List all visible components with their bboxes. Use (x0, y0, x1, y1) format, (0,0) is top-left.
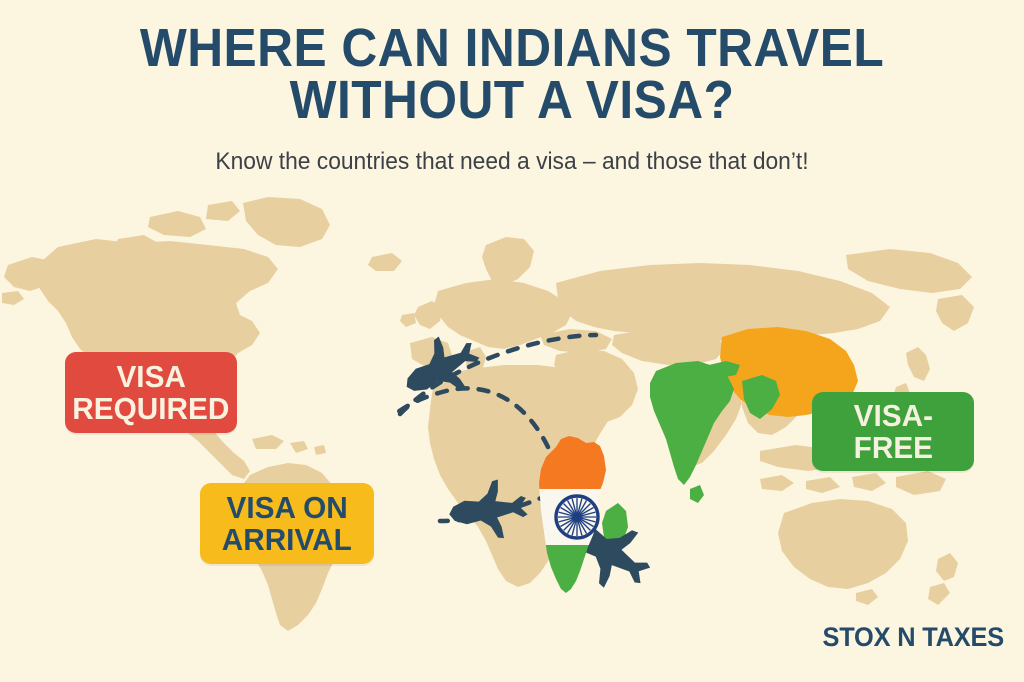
ashoka-chakra-icon (556, 496, 598, 538)
brand-logo: STOX N TAXES (60, 622, 1004, 653)
legend-badge-visa-required[interactable]: VISA REQUIRED (65, 352, 237, 433)
page-title: WHERE CAN INDIANS TRAVEL WITHOUT A VISA? (0, 22, 1024, 126)
legend-badge-visa-on-arrival-line2: ARRIVAL (222, 524, 352, 556)
legend-badge-visa-free[interactable]: VISA- FREE (812, 392, 974, 471)
legend-badge-visa-required-line1: VISA (116, 361, 185, 393)
infographic-canvas: WHERE CAN INDIANS TRAVEL WITHOUT A VISA?… (0, 0, 1024, 682)
legend-badge-visa-free-line1: VISA- (853, 400, 932, 432)
title-line-2: WITHOUT A VISA? (41, 74, 983, 126)
legend-badge-visa-on-arrival[interactable]: VISA ON ARRIVAL (200, 483, 374, 564)
title-line-1: WHERE CAN INDIANS TRAVEL (41, 22, 983, 74)
legend-badge-visa-on-arrival-line1: VISA ON (226, 492, 347, 524)
page-subtitle: Know the countries that need a visa – an… (26, 148, 999, 176)
legend-badge-visa-required-line2: REQUIRED (72, 393, 229, 425)
legend-badge-visa-free-line2: FREE (853, 432, 932, 464)
